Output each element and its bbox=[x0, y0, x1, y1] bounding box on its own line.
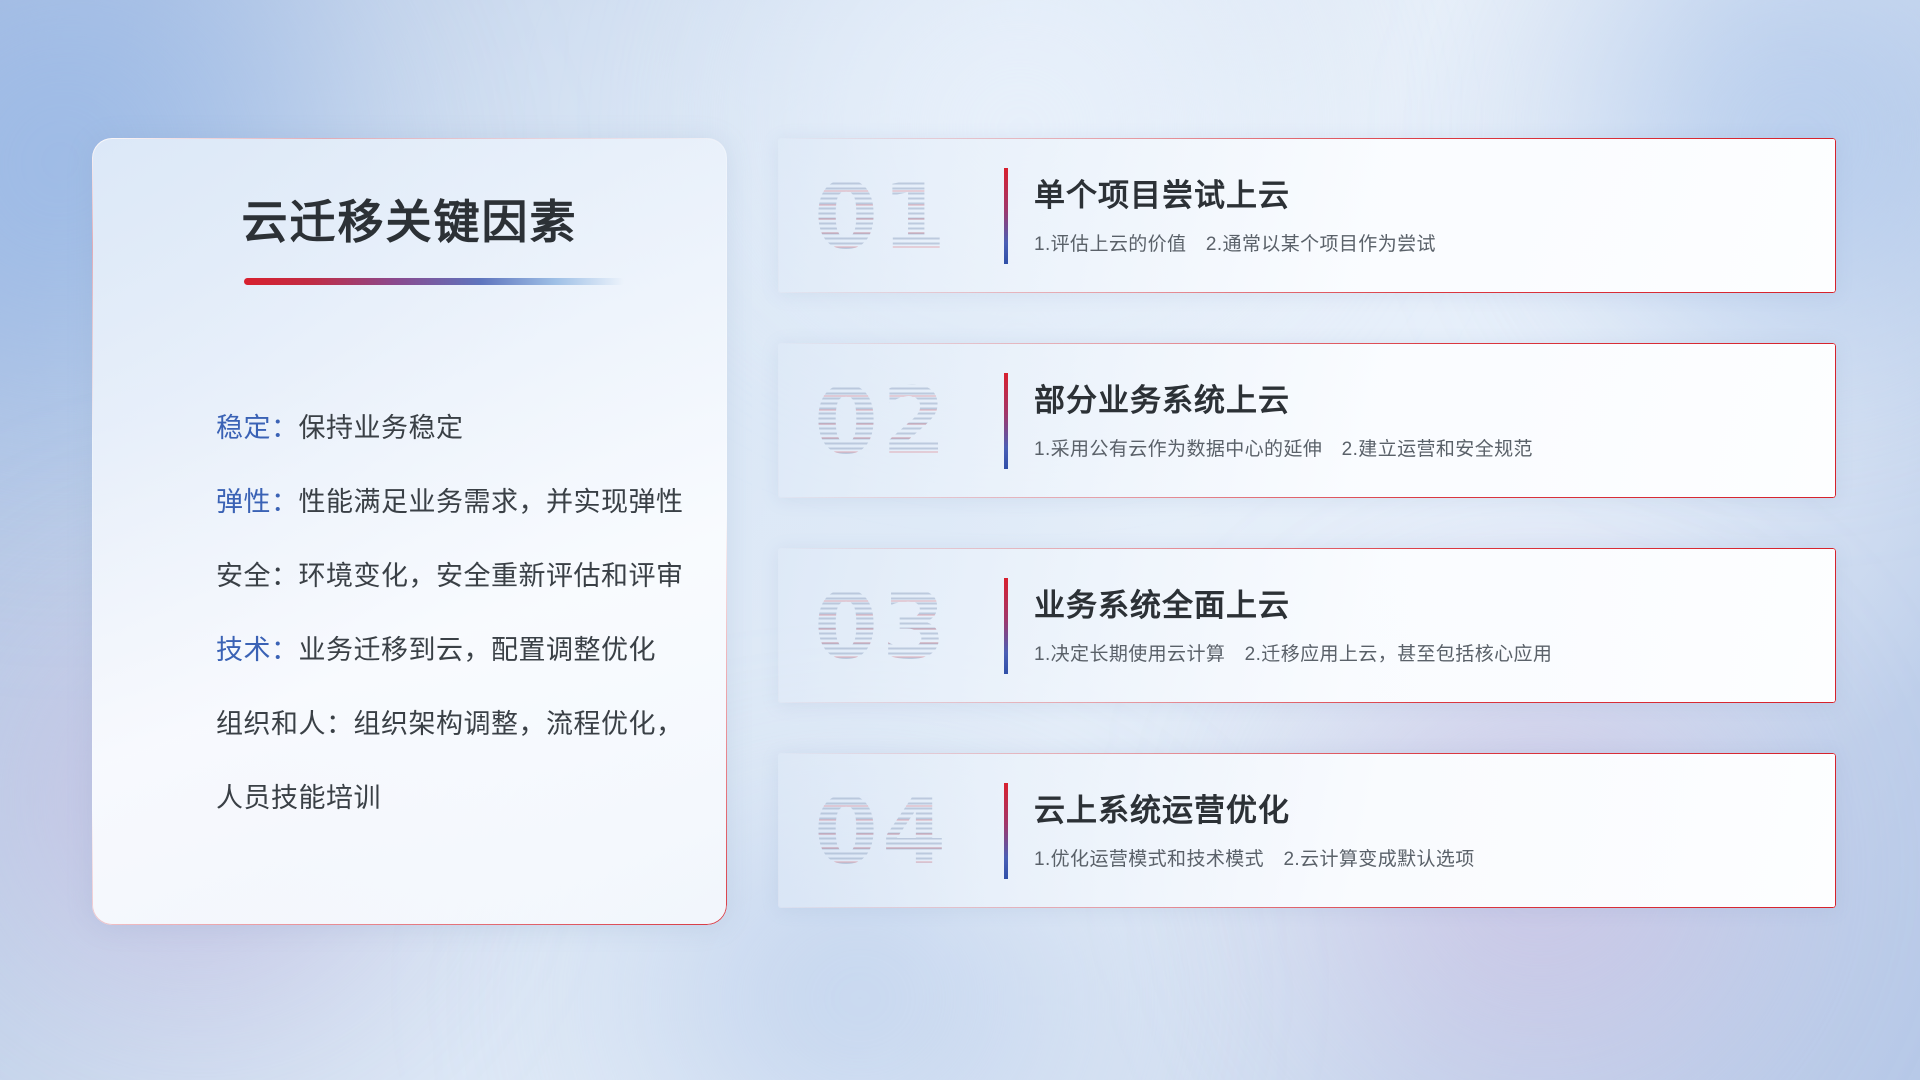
factor-text: 人员技能培训 bbox=[216, 783, 381, 813]
factor-row: 稳定：保持业务稳定 bbox=[216, 410, 691, 446]
factor-label: 组织和人： bbox=[216, 709, 354, 739]
factor-row: 安全：环境变化，安全重新评估和评审 bbox=[216, 558, 691, 594]
step-card[interactable]: 0404云上系统运营优化1.优化运营模式和技术模式 2.云计算变成默认选项 bbox=[778, 753, 1836, 908]
step-number-tint: 04 bbox=[814, 777, 950, 884]
key-factors-panel: 云迁移关键因素 稳定：保持业务稳定弹性：性能满足业务需求，并实现弹性安全：环境变… bbox=[92, 138, 727, 925]
step-title: 部分业务系统上云 bbox=[1034, 375, 1808, 420]
step-body: 部分业务系统上云1.采用公有云作为数据中心的延伸 2.建立运营和安全规范 bbox=[1034, 375, 1808, 461]
step-subtitle: 1.优化运营模式和技术模式 2.云计算变成默认选项 bbox=[1034, 844, 1808, 871]
step-number-tint: 02 bbox=[814, 367, 950, 474]
step-body: 云上系统运营优化1.优化运营模式和技术模式 2.云计算变成默认选项 bbox=[1034, 785, 1808, 871]
factor-row: 弹性：性能满足业务需求，并实现弹性 bbox=[216, 484, 691, 520]
step-subtitle: 1.评估上云的价值 2.通常以某个项目作为尝试 bbox=[1034, 229, 1808, 256]
page-title: 云迁移关键因素 bbox=[92, 186, 727, 252]
step-body: 业务系统全面上云1.决定长期使用云计算 2.迁移应用上云，甚至包括核心应用 bbox=[1034, 580, 1808, 666]
migration-steps-list: 0101单个项目尝试上云1.评估上云的价值 2.通常以某个项目作为尝试0202部… bbox=[778, 138, 1836, 908]
factor-row: 人员技能培训 bbox=[216, 780, 691, 816]
step-body: 单个项目尝试上云1.评估上云的价值 2.通常以某个项目作为尝试 bbox=[1034, 170, 1808, 256]
step-card[interactable]: 0202部分业务系统上云1.采用公有云作为数据中心的延伸 2.建立运营和安全规范 bbox=[778, 343, 1836, 498]
step-title: 云上系统运营优化 bbox=[1034, 785, 1808, 830]
factor-text: 业务迁移到云，配置调整优化 bbox=[299, 635, 657, 665]
step-number-tint: 01 bbox=[814, 162, 950, 269]
factor-list: 稳定：保持业务稳定弹性：性能满足业务需求，并实现弹性安全：环境变化，安全重新评估… bbox=[216, 410, 691, 816]
accent-divider-bar bbox=[1004, 783, 1008, 879]
factor-row: 组织和人：组织架构调整，流程优化， bbox=[216, 706, 691, 742]
title-underline-rule bbox=[244, 278, 624, 285]
factor-label: 弹性： bbox=[216, 487, 299, 517]
factor-label: 技术： bbox=[216, 635, 299, 665]
factor-label: 安全： bbox=[216, 561, 299, 591]
factor-row: 技术：业务迁移到云，配置调整优化 bbox=[216, 632, 691, 668]
step-subtitle: 1.决定长期使用云计算 2.迁移应用上云，甚至包括核心应用 bbox=[1034, 639, 1808, 666]
step-title: 单个项目尝试上云 bbox=[1034, 170, 1808, 215]
factor-text: 保持业务稳定 bbox=[299, 413, 464, 443]
factor-text: 性能满足业务需求，并实现弹性 bbox=[299, 487, 684, 517]
step-number-tint: 03 bbox=[814, 572, 950, 679]
step-card[interactable]: 0101单个项目尝试上云1.评估上云的价值 2.通常以某个项目作为尝试 bbox=[778, 138, 1836, 293]
step-title: 业务系统全面上云 bbox=[1034, 580, 1808, 625]
factor-text: 环境变化，安全重新评估和评审 bbox=[299, 561, 684, 591]
step-subtitle: 1.采用公有云作为数据中心的延伸 2.建立运营和安全规范 bbox=[1034, 434, 1808, 461]
accent-divider-bar bbox=[1004, 168, 1008, 264]
factor-text: 组织架构调整，流程优化， bbox=[354, 709, 684, 739]
accent-divider-bar bbox=[1004, 373, 1008, 469]
factor-label: 稳定： bbox=[216, 413, 299, 443]
accent-divider-bar bbox=[1004, 578, 1008, 674]
step-card[interactable]: 0303业务系统全面上云1.决定长期使用云计算 2.迁移应用上云，甚至包括核心应… bbox=[778, 548, 1836, 703]
